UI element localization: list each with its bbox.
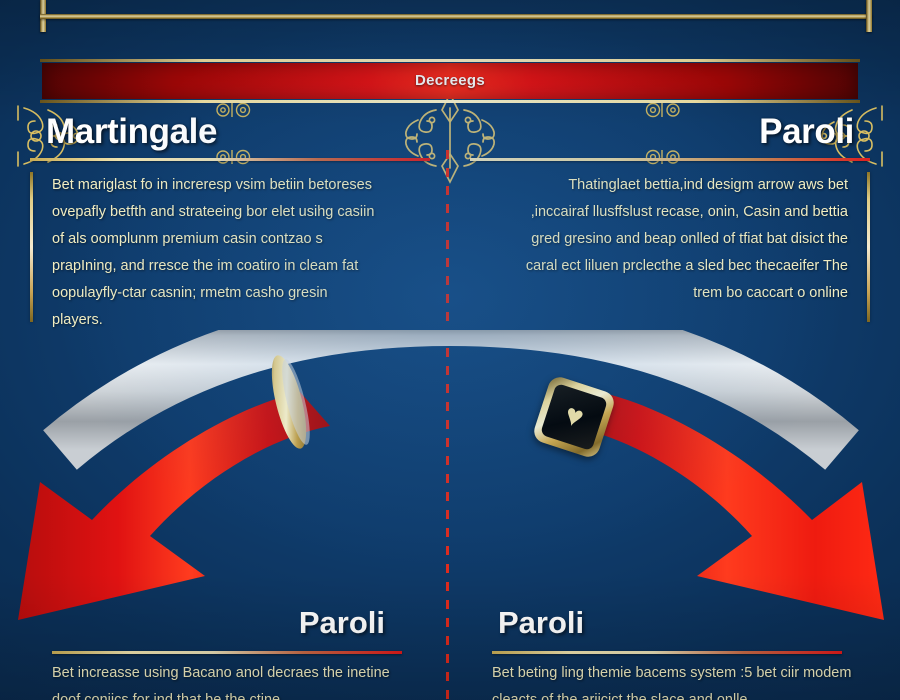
rule-bar (40, 14, 872, 19)
scroll-ornament-top-right (640, 101, 692, 119)
scroll-ornament-bottom-right (640, 148, 692, 166)
top-left-title-rule (30, 158, 430, 161)
ribbon-edge-top (40, 59, 860, 62)
top-right-title-rule (470, 158, 870, 161)
heart-suit-icon: ♥ (561, 400, 587, 434)
top-right-accent-bar (867, 172, 870, 322)
bottom-right-title: Paroli (498, 605, 584, 641)
top-left-title: Martingale (46, 112, 217, 152)
top-left-body: Bet mariglast fo in increresp vsim betii… (52, 172, 382, 334)
top-left-accent-bar (30, 172, 33, 322)
banner-ribbon: Decreegs (42, 63, 858, 99)
arrow-artwork (0, 330, 900, 630)
bottom-left-body: Bet increasse using Bacano anol decraes … (52, 660, 412, 700)
bottom-right-body: Bet beting ling themie bacems system :5 … (492, 660, 867, 700)
fleur-ornament-center (392, 90, 508, 186)
top-gold-rule (40, 12, 872, 20)
bottom-left-title: Paroli (299, 605, 385, 641)
bottom-right-title-rule (492, 651, 842, 654)
scroll-ornament-top-left (210, 101, 262, 119)
bottom-left-title-rule (52, 651, 402, 654)
ribbon-edge-bottom (40, 100, 860, 103)
scroll-ornament-bottom-left (210, 148, 262, 166)
infographic-canvas: Decreegs Martingale Bet mariglast fo in … (0, 0, 900, 700)
header-banner: Decreegs (0, 56, 900, 108)
rule-cap-right (866, 0, 872, 32)
banner-label: Decreegs (42, 63, 858, 99)
top-right-body: Thatinglaet bettia,ind desigm arrow aws … (518, 172, 848, 307)
top-right-title: Paroli (759, 112, 854, 152)
